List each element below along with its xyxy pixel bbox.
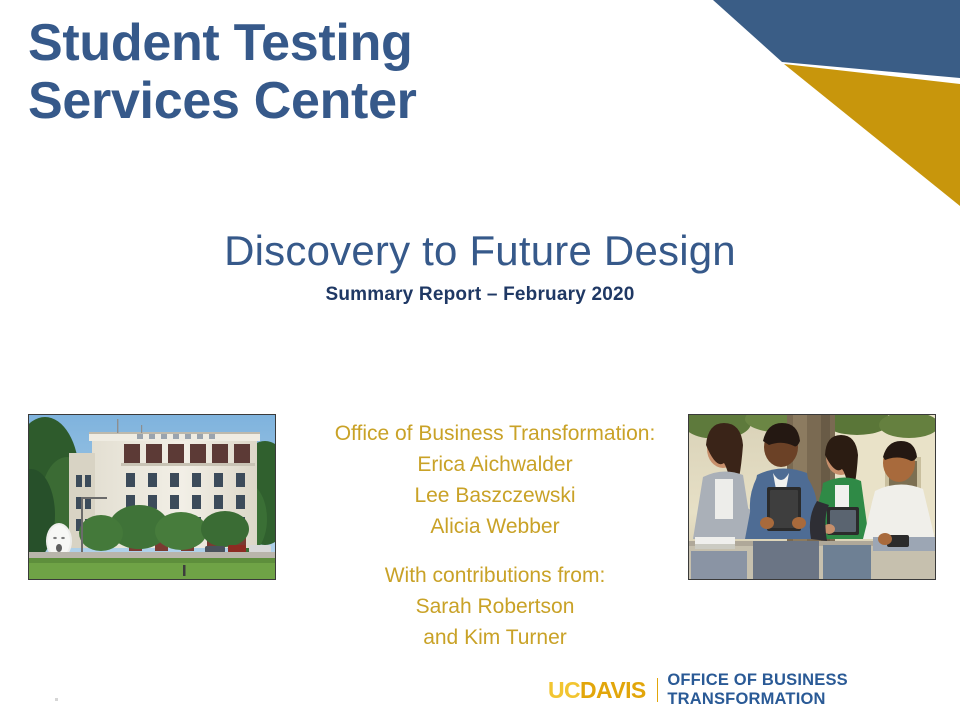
presentation-title-slide: Student Testing Services Center Discover… <box>0 0 960 720</box>
credits-name: Erica Aichwalder <box>300 449 690 480</box>
gold-triangle-shape <box>784 64 960 206</box>
contributor-name: and Kim Turner <box>300 622 690 653</box>
page-title-line-1: Student Testing <box>28 14 668 72</box>
campus-building-photo <box>28 414 276 580</box>
logo-uc-text: UC <box>548 677 580 704</box>
logo-divider <box>657 678 659 702</box>
subtitle-report-date: Summary Report – February 2020 <box>0 284 960 306</box>
page-title-line-2: Services Center <box>28 72 668 130</box>
subtitle-main: Discovery to Future Design <box>0 228 960 274</box>
stray-dot-artifact <box>55 698 58 701</box>
page-title: Student Testing Services Center <box>28 14 668 130</box>
credits-name: Lee Baszczewski <box>300 480 690 511</box>
credits-heading: Office of Business Transformation: <box>300 418 690 449</box>
students-group-photo <box>688 414 936 580</box>
logo-department-text: OFFICE OF BUSINESS TRANSFORMATION <box>667 671 960 709</box>
contributions-heading: With contributions from: <box>300 560 690 591</box>
campus-building-photo-art <box>29 415 275 579</box>
corner-decoration <box>700 0 960 210</box>
uc-davis-obt-logo: UC DAVIS OFFICE OF BUSINESS TRANSFORMATI… <box>548 677 960 703</box>
contributor-name: Sarah Robertson <box>300 591 690 622</box>
logo-davis-text: DAVIS <box>580 677 646 704</box>
credits-block: Office of Business Transformation: Erica… <box>300 418 690 654</box>
credits-spacer <box>300 542 690 560</box>
credits-name: Alicia Webber <box>300 511 690 542</box>
subtitle-block: Discovery to Future Design Summary Repor… <box>0 228 960 306</box>
blue-triangle-shape <box>713 0 960 78</box>
students-group-photo-art <box>689 415 935 579</box>
